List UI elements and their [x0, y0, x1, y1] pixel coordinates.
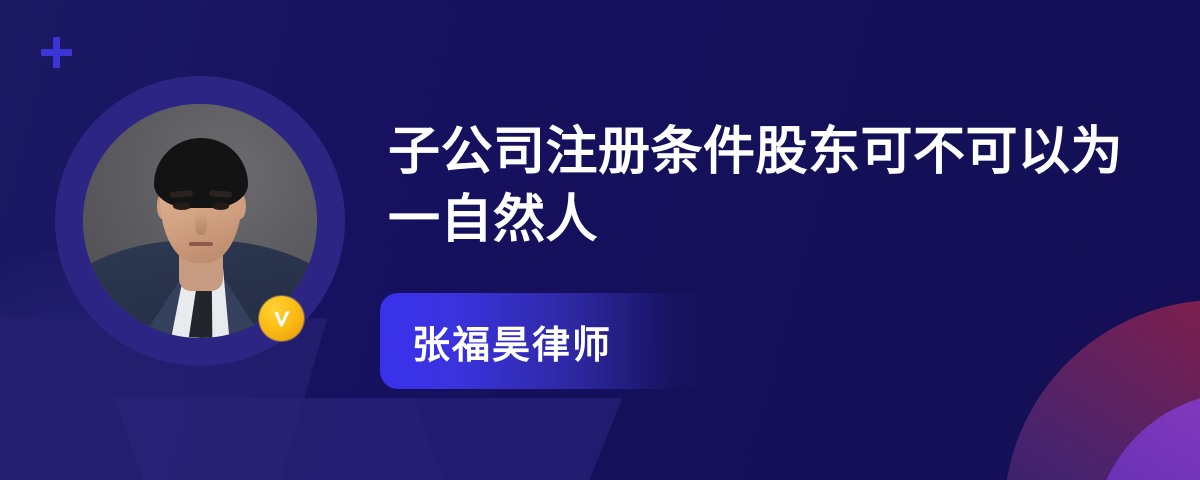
- article-cover-card: 子公司注册条件股东可不可以为一自然人 张福昊律师: [0, 0, 1200, 480]
- portrait-mouth: [189, 242, 212, 246]
- author-badge[interactable]: 张福昊律师: [380, 293, 715, 389]
- portrait-eye-right: [212, 202, 230, 209]
- headline-block: 子公司注册条件股东可不可以为一自然人: [388, 118, 1128, 254]
- author-name: 张福昊律师: [380, 314, 612, 369]
- verified-badge-icon: [259, 296, 304, 341]
- plus-icon: [41, 37, 72, 68]
- page-title: 子公司注册条件股东可不可以为一自然人: [388, 118, 1128, 254]
- portrait-eye-left: [173, 202, 191, 209]
- portrait-eyebrow-right: [209, 190, 233, 197]
- portrait-nose: [195, 212, 207, 235]
- plus-icon-bar-vertical: [53, 37, 60, 68]
